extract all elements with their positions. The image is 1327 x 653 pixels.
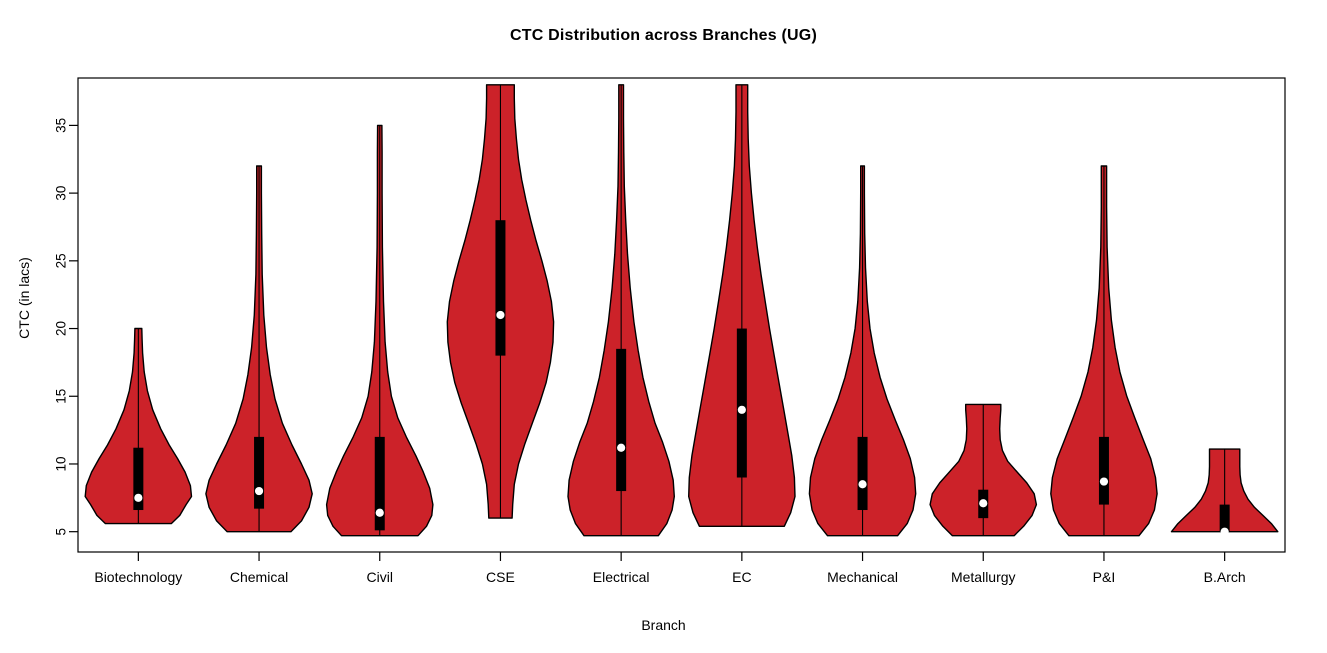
violin-body[interactable] [568,85,674,536]
violin-body[interactable] [930,404,1036,535]
y-tick-label: 10 [54,456,69,471]
violin-body[interactable] [206,166,312,532]
violin-body[interactable] [447,85,553,518]
violin-body[interactable] [85,329,191,524]
median-point [496,311,504,319]
x-tick-label: Biotechnology [94,569,182,585]
median-point [255,487,263,495]
median-point [738,406,746,414]
violin-plot-figure: CTC Distribution across Branches (UG) CT… [0,0,1327,653]
median-point [617,444,625,452]
y-axis: 5101520253035 [54,118,79,536]
x-tick-label: B.Arch [1204,569,1246,585]
violin-body[interactable] [1051,166,1157,536]
y-tick-label: 35 [54,118,69,133]
median-point [134,494,142,502]
x-tick-label: Electrical [593,569,650,585]
iqr-box [737,329,747,478]
violin-body[interactable] [689,85,795,527]
median-point [1221,528,1229,536]
x-tick-label: EC [732,569,751,585]
y-tick-label: 25 [54,253,69,268]
x-axis: BiotechnologyChemicalCivilCSEElectricalE… [94,552,1245,585]
violin-body[interactable] [327,125,433,535]
y-tick-label: 20 [54,321,69,336]
x-tick-label: P&I [1093,569,1116,585]
iqr-box [254,437,264,509]
median-point [1100,477,1108,485]
median-point [858,480,866,488]
y-tick-label: 5 [54,528,69,536]
violin-body[interactable] [1172,449,1278,536]
chart-canvas: 5101520253035 BiotechnologyChemicalCivil… [0,0,1327,653]
median-point [376,509,384,517]
y-tick-label: 30 [54,186,69,201]
x-tick-label: Chemical [230,569,288,585]
x-tick-label: CSE [486,569,515,585]
iqr-box [495,220,505,355]
x-tick-label: Civil [367,569,393,585]
violin-series-group [85,85,1278,536]
iqr-box [858,437,868,510]
iqr-box [616,349,626,491]
x-tick-label: Metallurgy [951,569,1016,585]
violin-body[interactable] [809,166,915,536]
y-tick-label: 15 [54,389,69,404]
median-point [979,499,987,507]
iqr-box [1099,437,1109,505]
x-tick-label: Mechanical [827,569,898,585]
